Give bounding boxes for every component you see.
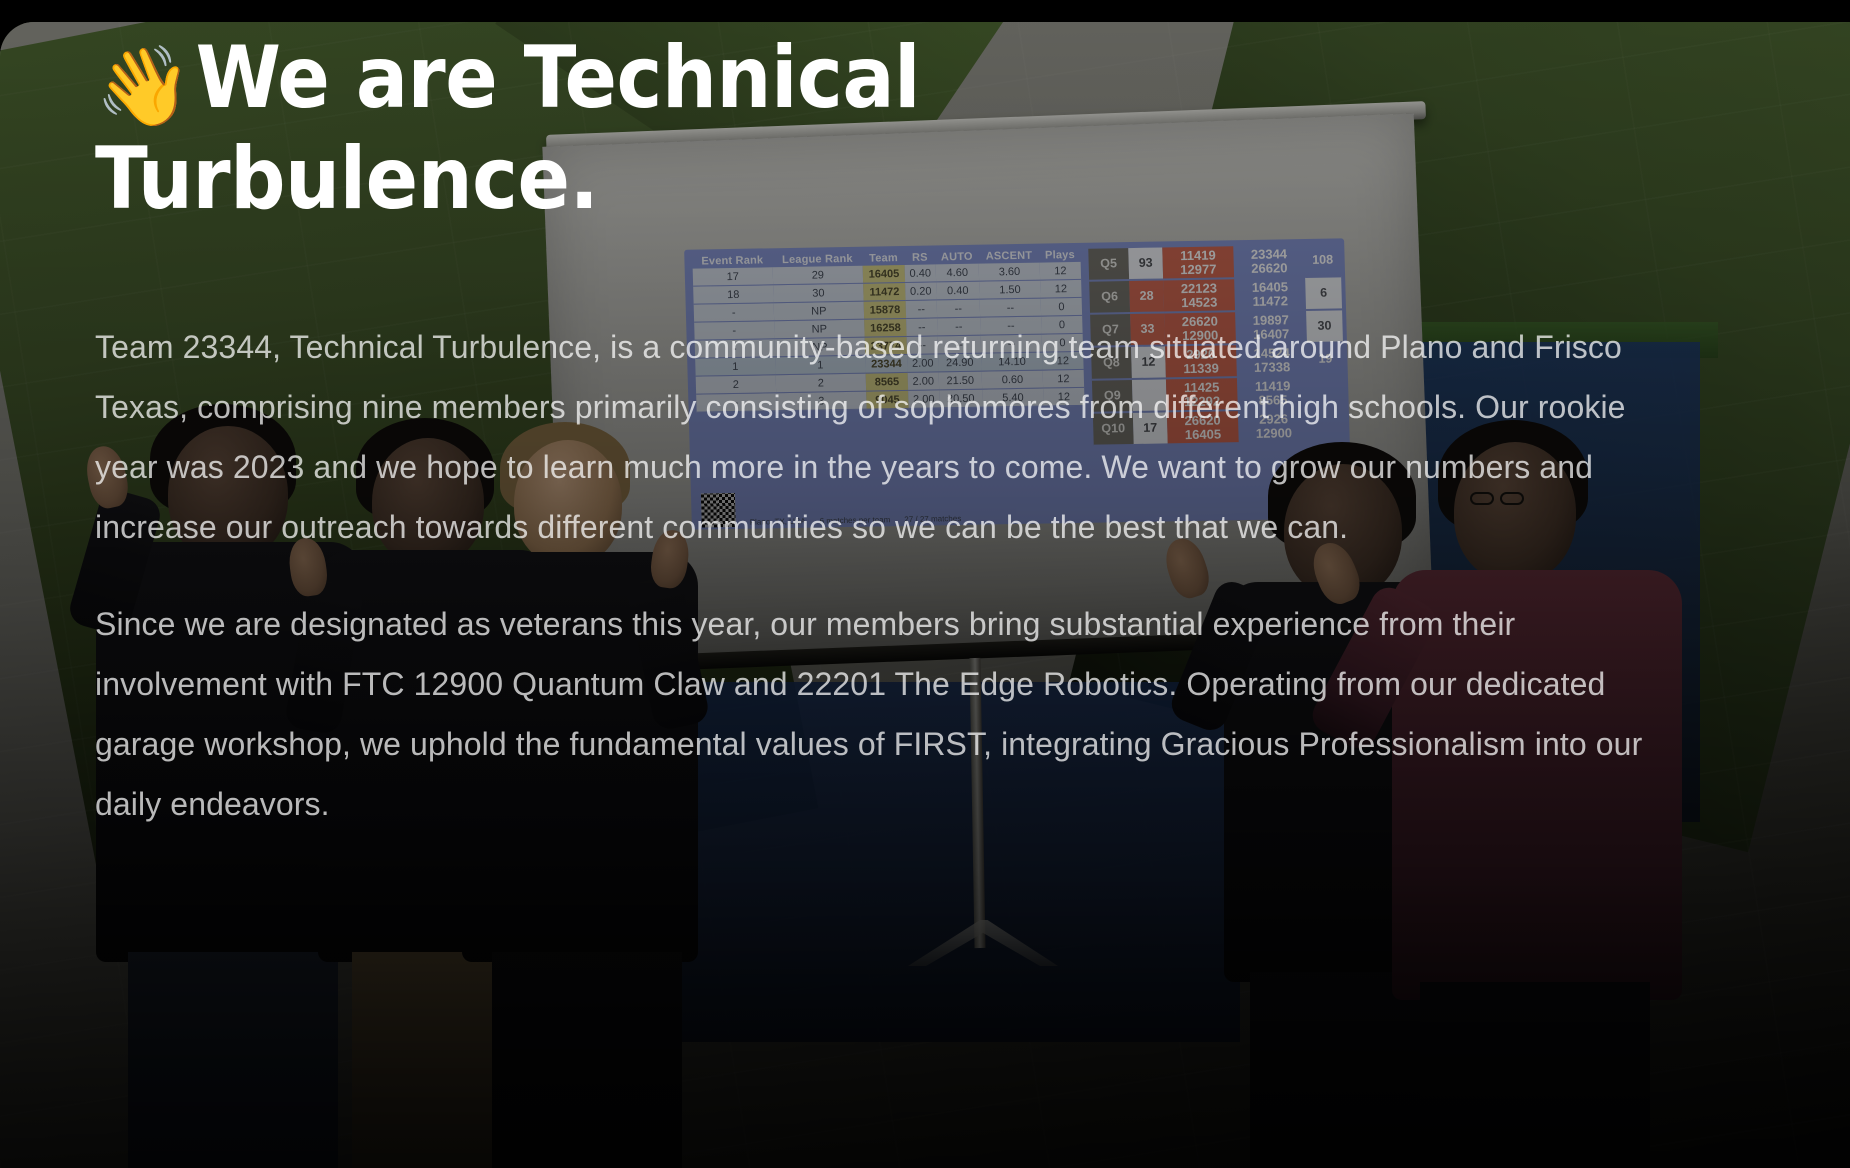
top-black-bar — [0, 0, 1850, 22]
page-title: 👋We are Technical Turbulence. — [95, 22, 1345, 231]
about-paragraph-1: Team 23344, Technical Turbulence, is a c… — [95, 317, 1680, 558]
about-copy: Team 23344, Technical Turbulence, is a c… — [95, 317, 1680, 834]
page-title-text: We are Technical Turbulence. — [95, 28, 920, 229]
hero-content: 👋We are Technical Turbulence. Team 23344… — [0, 22, 1850, 1168]
about-paragraph-2: Since we are designated as veterans this… — [95, 594, 1680, 835]
waving-hand-icon: 👋 — [95, 42, 192, 132]
page-root: Event Rank League Rank Team RS AUTO ASCE… — [0, 0, 1850, 1168]
